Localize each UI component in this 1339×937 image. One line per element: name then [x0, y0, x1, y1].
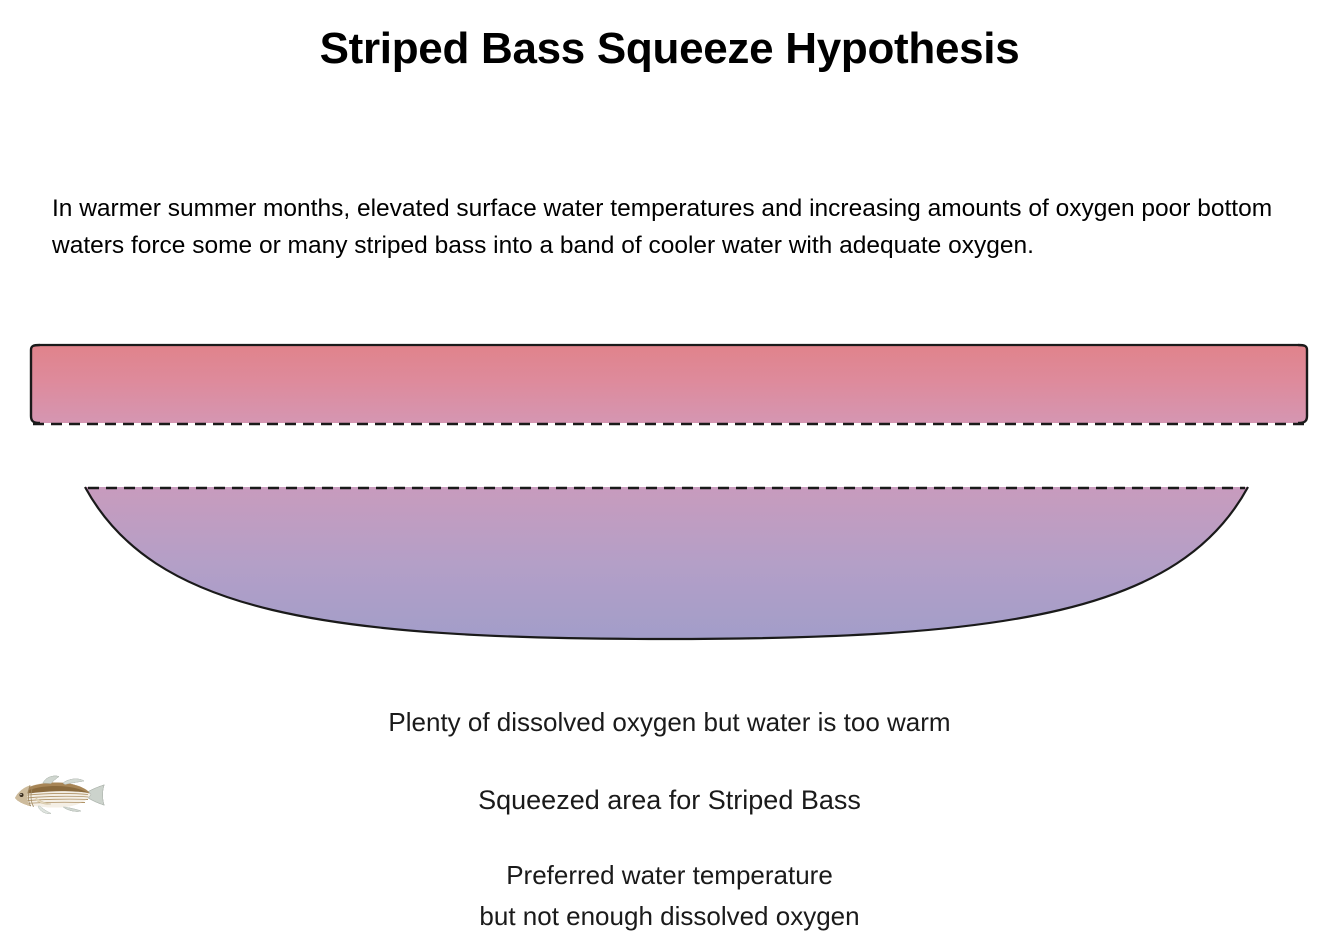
- page-title: Striped Bass Squeeze Hypothesis: [0, 24, 1339, 74]
- slide-page: Striped Bass Squeeze Hypothesis In warme…: [0, 0, 1339, 692]
- bottom-shape-label-line2: but not enough dissolved oxygen: [0, 896, 1339, 937]
- intro-paragraph: In warmer summer months, elevated surfac…: [52, 190, 1290, 264]
- top-band-label: Plenty of dissolved oxygen but water is …: [0, 707, 1339, 738]
- bottom-low-oxygen-shape: [85, 487, 1248, 639]
- striped-bass-fish: [7, 772, 107, 816]
- squeezed-band: Squeezed area for Striped Bass: [0, 772, 1339, 828]
- squeezed-band-label: Squeezed area for Striped Bass: [464, 785, 875, 816]
- striped-bass-squeeze-diagram: Plenty of dissolved oxygen but water is …: [0, 340, 1339, 650]
- top-warm-band: [31, 345, 1307, 424]
- diagram-shapes: [0, 340, 1339, 650]
- bottom-shape-label-line1: Preferred water temperature: [0, 855, 1339, 896]
- bottom-shape-label: Preferred water temperature but not enou…: [0, 855, 1339, 937]
